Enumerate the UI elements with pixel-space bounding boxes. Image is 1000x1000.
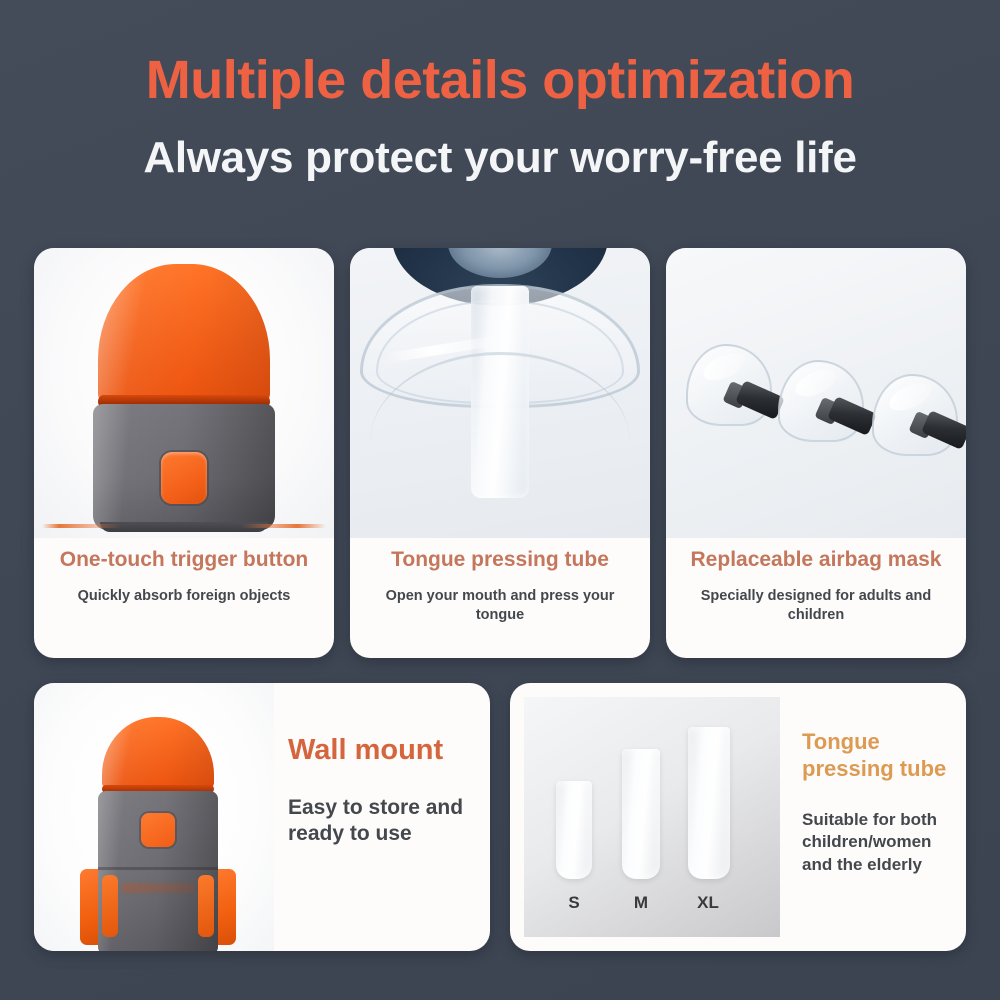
card-title: Wall mount xyxy=(288,735,478,767)
card-title: Tongue pressing tube xyxy=(802,729,962,783)
orange-cap-shape xyxy=(102,717,214,789)
infographic-page: Multiple details optimization Always pro… xyxy=(0,0,1000,1000)
orange-cap-shape xyxy=(98,264,270,404)
card-description: Open your mouth and press your tongue xyxy=(362,587,638,625)
card-title: Replaceable airbag mask xyxy=(678,548,954,573)
tube-shape-small xyxy=(556,781,592,879)
card-caption: Replaceable airbag mask Specially design… xyxy=(666,538,966,624)
card-caption: One-touch trigger button Quickly absorb … xyxy=(34,538,334,606)
device-illustration xyxy=(88,717,228,951)
feature-card-one-touch-trigger-button: One-touch trigger button Quickly absorb … xyxy=(34,248,334,658)
trigger-button-shape xyxy=(161,452,207,504)
card-description: Suitable for both children/women and the… xyxy=(802,809,962,876)
product-photo-tube-sizes: S M XL xyxy=(524,697,780,937)
product-photo-wall-mount xyxy=(34,683,274,951)
tube-shape-medium xyxy=(622,749,660,879)
product-photo-trigger-button xyxy=(34,248,334,538)
card-caption: Tongue pressing tube Suitable for both c… xyxy=(802,729,962,876)
trigger-button-shape xyxy=(141,813,175,847)
size-label-s: S xyxy=(551,893,597,913)
card-description: Easy to store and ready to use xyxy=(288,795,478,846)
bracket-clip-left-shape xyxy=(102,875,118,937)
size-label-xl: XL xyxy=(685,893,731,913)
body-seam-shape xyxy=(98,867,218,870)
header-block: Multiple details optimization Always pro… xyxy=(0,52,1000,181)
feature-card-tube-sizes: S M XL Tongue pressing tube Suitable for… xyxy=(510,683,966,951)
page-title: Multiple details optimization xyxy=(0,52,1000,109)
card-title: One-touch trigger button xyxy=(46,548,322,573)
bracket-clip-right-shape xyxy=(198,875,214,937)
feature-card-replaceable-airbag-mask: Replaceable airbag mask Specially design… xyxy=(666,248,966,658)
card-description: Quickly absorb foreign objects xyxy=(46,587,322,606)
card-caption: Tongue pressing tube Open your mouth and… xyxy=(350,538,650,624)
page-subtitle: Always protect your worry-free life xyxy=(0,135,1000,181)
feature-card-wall-mount: Wall mount Easy to store and ready to us… xyxy=(34,683,490,951)
card-caption: Wall mount Easy to store and ready to us… xyxy=(288,735,478,846)
product-photo-tongue-tube xyxy=(350,248,650,538)
card-description: Specially designed for adults and childr… xyxy=(678,587,954,625)
device-illustration xyxy=(90,264,278,532)
size-label-m: M xyxy=(618,893,664,913)
orange-accent-line xyxy=(42,524,326,528)
product-photo-airbag-masks xyxy=(666,248,966,538)
card-title: Tongue pressing tube xyxy=(362,548,638,573)
body-label-shape xyxy=(122,883,194,893)
tube-shape-xlarge xyxy=(688,727,730,879)
feature-card-tongue-pressing-tube: Tongue pressing tube Open your mouth and… xyxy=(350,248,650,658)
